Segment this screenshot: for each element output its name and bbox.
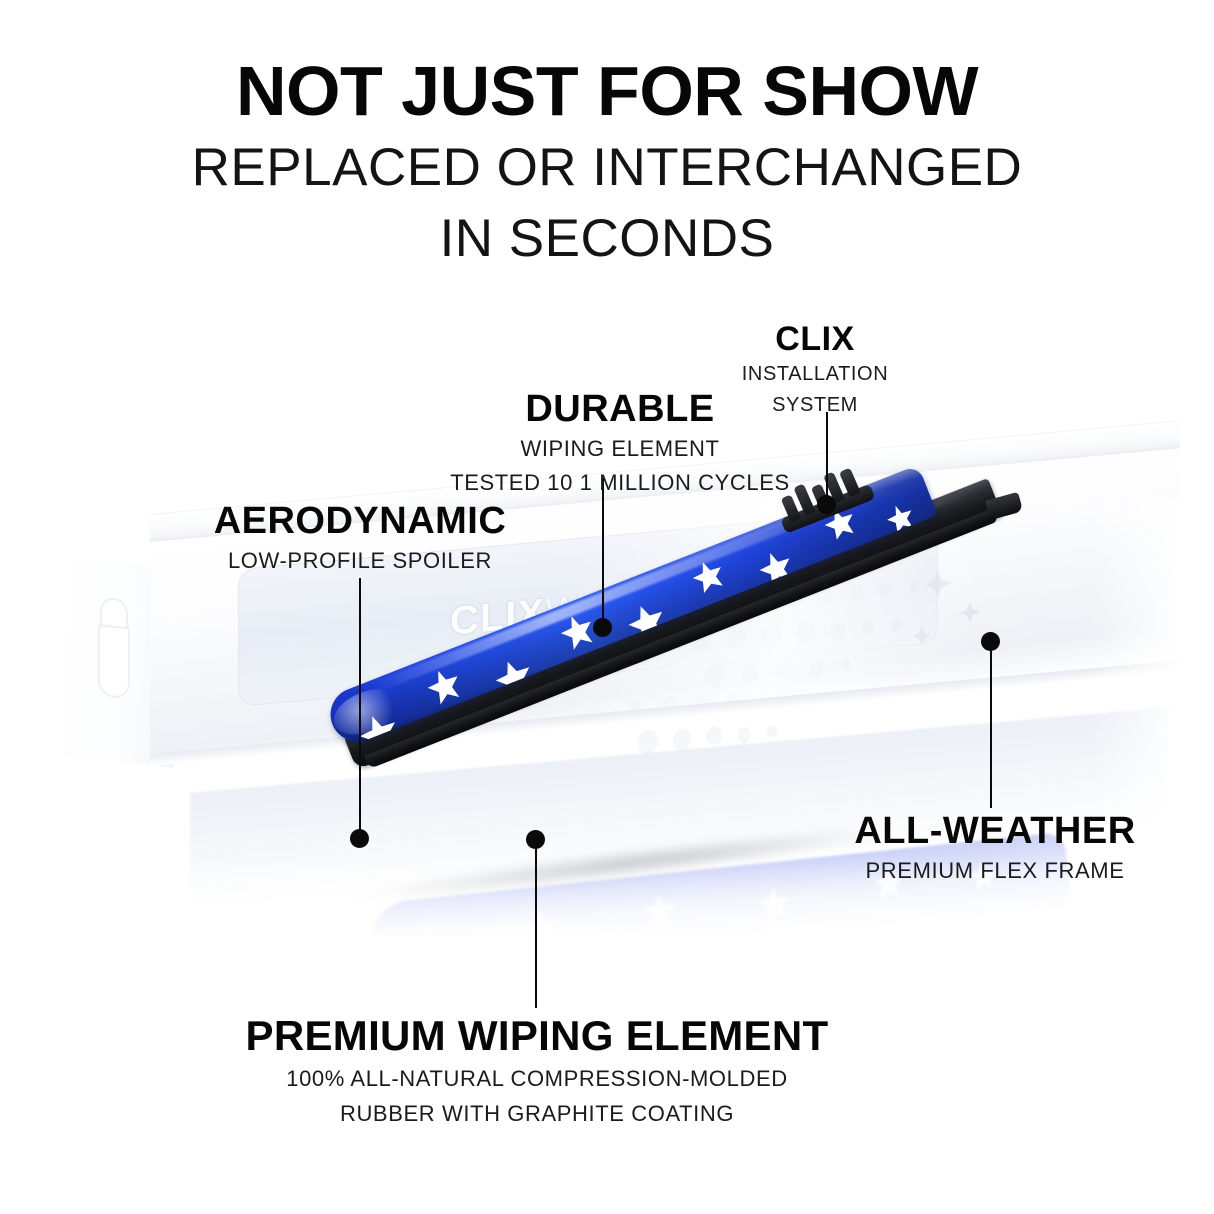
hang-tab-hole-icon — [100, 614, 128, 697]
leader-dot-clix — [817, 495, 836, 514]
infographic-canvas: NOT JUST FOR SHOW REPLACED OR INTERCHANG… — [0, 0, 1214, 1214]
callout-aerodynamic-subtitle-1: LOW-PROFILE SPOILER — [150, 548, 570, 574]
callout-premium-subtitle-1: 100% ALL-NATURAL COMPRESSION-MOLDED — [157, 1066, 917, 1092]
page-title: NOT JUST FOR SHOW REPLACED OR INTERCHANG… — [0, 56, 1214, 267]
leader-dot-aerodynamic — [350, 829, 369, 848]
callout-durable-title: DURABLE — [420, 390, 820, 428]
headline-line-2: REPLACED OR INTERCHANGED — [0, 140, 1214, 197]
leader-dot-durable — [593, 618, 612, 637]
callout-durable-subtitle-2: TESTED 10 1 MILLION CYCLES — [420, 470, 820, 496]
callout-premium-title: PREMIUM WIPING ELEMENT — [157, 1015, 917, 1057]
headline-line-1: NOT JUST FOR SHOW — [0, 56, 1214, 126]
leader-line-all-weather — [990, 648, 992, 808]
leader-dot-all-weather — [981, 632, 1000, 651]
callout-premium-subtitle-2: RUBBER WITH GRAPHITE COATING — [157, 1101, 917, 1127]
callout-aerodynamic-title: AERODYNAMIC — [150, 502, 570, 540]
leader-dot-premium-wiping-element — [526, 830, 545, 849]
callout-premium-wiping-element: PREMIUM WIPING ELEMENT 100% ALL-NATURAL … — [157, 1015, 917, 1127]
callout-aerodynamic: AERODYNAMIC LOW-PROFILE SPOILER — [150, 502, 570, 574]
leader-line-aerodynamic — [359, 578, 361, 840]
callout-all-weather: ALL-WEATHER PREMIUM FLEX FRAME — [795, 812, 1195, 884]
leader-line-clix — [826, 412, 828, 504]
callout-durable: DURABLE WIPING ELEMENT TESTED 10 1 MILLI… — [420, 390, 820, 496]
headline-line-3: IN SECONDS — [0, 211, 1214, 268]
callout-clix-title: CLIX — [690, 322, 940, 356]
callout-all-weather-subtitle-1: PREMIUM FLEX FRAME — [795, 858, 1195, 884]
callout-clix-subtitle-1: INSTALLATION — [690, 363, 940, 387]
leader-line-premium-wiping-element — [535, 846, 537, 1008]
callout-durable-subtitle-1: WIPING ELEMENT — [420, 436, 820, 462]
callout-all-weather-title: ALL-WEATHER — [795, 812, 1195, 850]
leader-line-durable — [602, 478, 604, 628]
